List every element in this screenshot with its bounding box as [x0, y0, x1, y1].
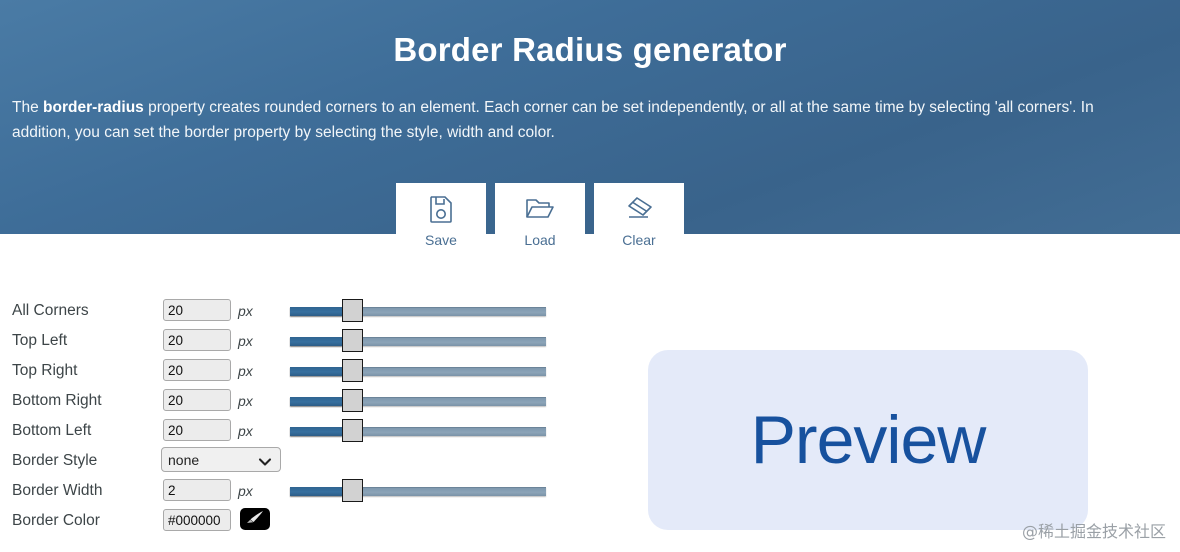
slider-bottom-left[interactable]: [290, 424, 546, 438]
eraser-icon: [624, 194, 654, 224]
slider-top-left[interactable]: [290, 334, 546, 348]
slider-fill: [290, 487, 342, 496]
input-bottom-left[interactable]: [163, 419, 231, 441]
slider-thumb[interactable]: [342, 329, 363, 352]
preview-box: Preview: [648, 350, 1088, 530]
label-border-style: Border Style: [12, 446, 162, 476]
slider-thumb[interactable]: [342, 389, 363, 412]
unit-bottom-left: px: [238, 416, 253, 446]
control-row-all-corners: All Corners px: [0, 296, 580, 326]
slider-thumb[interactable]: [342, 299, 363, 322]
description-before: The: [12, 99, 43, 116]
input-top-left[interactable]: [163, 329, 231, 351]
control-row-border-width: Border Width px: [0, 476, 580, 506]
unit-bottom-right: px: [238, 386, 253, 416]
label-bottom-left: Bottom Left: [12, 416, 162, 446]
control-row-top-right: Top Right px: [0, 356, 580, 386]
control-row-top-left: Top Left px: [0, 326, 580, 356]
slider-fill: [290, 427, 342, 436]
load-button[interactable]: Load: [495, 183, 585, 251]
control-row-border-color: Border Color: [0, 506, 580, 536]
slider-border-width[interactable]: [290, 484, 546, 498]
slider-fill: [290, 337, 342, 346]
slider-fill: [290, 397, 342, 406]
control-row-border-style: Border Style none: [0, 446, 580, 476]
page-description: The border-radius property creates round…: [12, 95, 1152, 145]
controls-panel: All Corners px Top Left px Top Right px: [0, 296, 580, 536]
label-border-width: Border Width: [12, 476, 162, 506]
clear-button[interactable]: Clear: [594, 183, 684, 251]
folder-open-icon: [525, 194, 555, 224]
save-button[interactable]: Save: [396, 183, 486, 251]
input-border-width[interactable]: [163, 479, 231, 501]
label-all-corners: All Corners: [12, 296, 162, 326]
input-all-corners[interactable]: [163, 299, 231, 321]
label-bottom-right: Bottom Right: [12, 386, 162, 416]
input-border-color[interactable]: [163, 509, 231, 531]
slider-fill: [290, 367, 342, 376]
slider-bottom-right[interactable]: [290, 394, 546, 408]
input-top-right[interactable]: [163, 359, 231, 381]
description-after: property creates rounded corners to an e…: [12, 99, 1094, 141]
unit-top-left: px: [238, 326, 253, 356]
unit-top-right: px: [238, 356, 253, 386]
save-floppy-icon: [428, 194, 454, 224]
preview-text: Preview: [751, 406, 986, 474]
control-row-bottom-left: Bottom Left px: [0, 416, 580, 446]
save-button-label: Save: [425, 232, 457, 248]
slider-top-right[interactable]: [290, 364, 546, 378]
control-row-bottom-right: Bottom Right px: [0, 386, 580, 416]
slider-thumb[interactable]: [342, 359, 363, 382]
slider-fill: [290, 307, 342, 316]
paintbrush-icon: [245, 509, 265, 529]
description-bold-term: border-radius: [43, 99, 144, 116]
unit-border-width: px: [238, 476, 253, 506]
select-border-style[interactable]: none: [161, 447, 281, 472]
slider-thumb[interactable]: [342, 419, 363, 442]
page-title: Border Radius generator: [0, 24, 1180, 76]
label-border-color: Border Color: [12, 506, 162, 536]
watermark: @稀土掘金技术社区: [1022, 518, 1166, 542]
label-top-right: Top Right: [12, 356, 162, 386]
load-button-label: Load: [524, 232, 555, 248]
slider-all-corners[interactable]: [290, 304, 546, 318]
color-picker-swatch[interactable]: [240, 508, 270, 530]
label-top-left: Top Left: [12, 326, 162, 356]
input-bottom-right[interactable]: [163, 389, 231, 411]
clear-button-label: Clear: [622, 232, 655, 248]
unit-all-corners: px: [238, 296, 253, 326]
toolbar: Save Load Clear: [396, 183, 756, 253]
slider-thumb[interactable]: [342, 479, 363, 502]
